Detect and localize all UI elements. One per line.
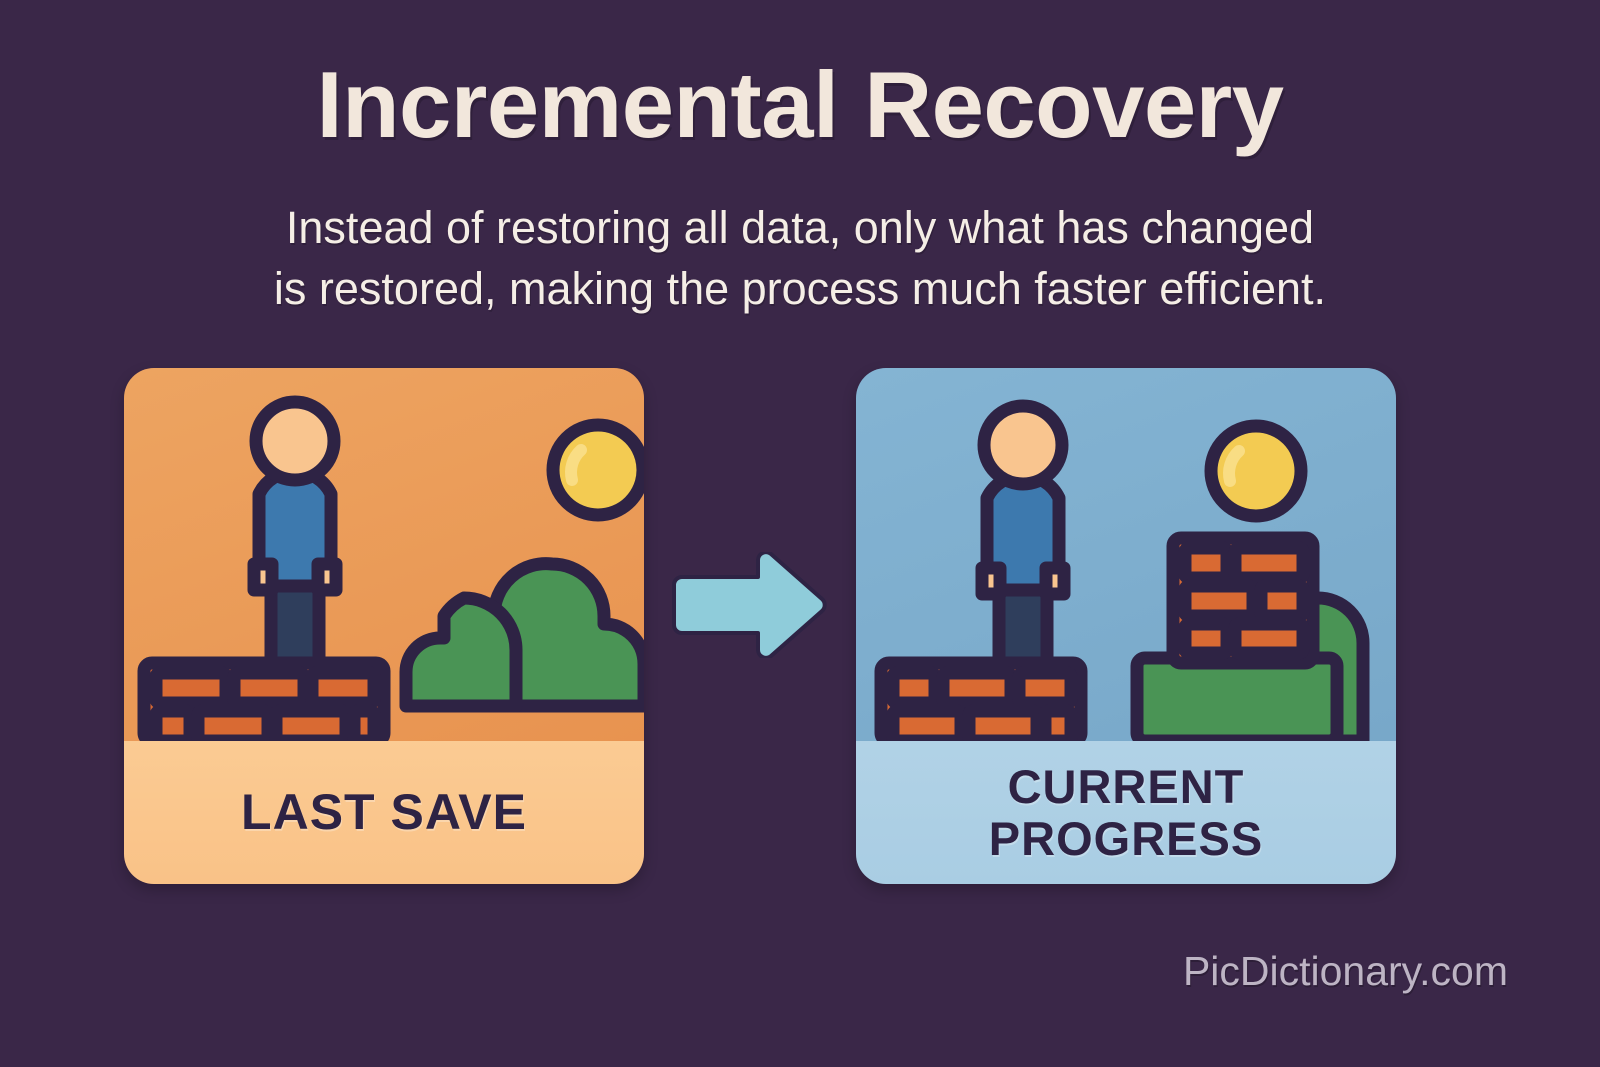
- current-progress-illustration: [856, 368, 1396, 741]
- scene-current-progress: [856, 368, 1396, 741]
- scene-last-save: [124, 368, 644, 741]
- poster-canvas: Incremental Recovery Instead of restorin…: [0, 0, 1600, 1067]
- card-last-save[interactable]: LAST SAVE: [124, 368, 644, 884]
- brick-wall-icon: [881, 663, 1081, 741]
- card-label-current-progress: CURRENT PROGRESS: [989, 761, 1263, 864]
- bush-short-icon: [406, 598, 516, 706]
- label-band-current-progress: CURRENT PROGRESS: [856, 741, 1396, 884]
- progress-arrow-icon: [668, 552, 828, 658]
- last-save-illustration: [124, 368, 644, 741]
- subtitle-line-1: Instead of restoring all data, only what…: [0, 198, 1600, 259]
- card-label-last-save: LAST SAVE: [241, 785, 527, 840]
- page-subtitle: Instead of restoring all data, only what…: [0, 198, 1600, 320]
- person-figure: [254, 402, 336, 671]
- card-current-progress[interactable]: CURRENT PROGRESS: [856, 368, 1396, 884]
- label-band-last-save: LAST SAVE: [124, 741, 644, 884]
- brick-wall-icon: [144, 663, 384, 741]
- green-platform: [1137, 658, 1337, 741]
- page-title: Incremental Recovery: [0, 58, 1600, 152]
- card-label-line-2: PROGRESS: [989, 813, 1263, 865]
- brick-tower-icon: [1173, 538, 1313, 663]
- subtitle-line-2: is restored, making the process much fas…: [0, 259, 1600, 320]
- sun-icon: [1211, 426, 1301, 516]
- card-label-line-1: CURRENT: [989, 761, 1263, 813]
- person-figure: [982, 406, 1064, 670]
- sun-icon: [553, 425, 643, 515]
- watermark: PicDictionary.com: [1183, 948, 1508, 995]
